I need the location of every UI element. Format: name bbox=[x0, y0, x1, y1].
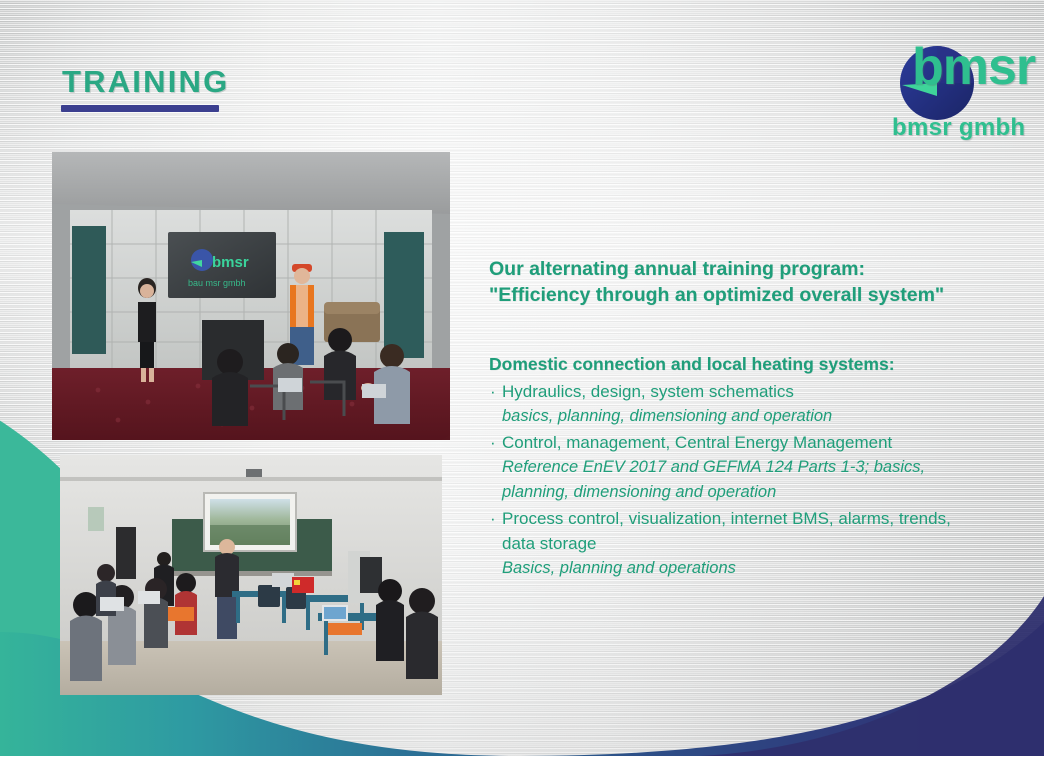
svg-text:bau msr gmbh: bau msr gmbh bbox=[188, 278, 246, 288]
bullet-icon: · bbox=[490, 430, 496, 455]
bullet-main-text: data storage bbox=[502, 531, 1037, 556]
bullet-icon: · bbox=[490, 506, 496, 531]
bullet-sub-text: basics, planning, dimensioning and opera… bbox=[502, 404, 1037, 429]
training-room-render-image: bmsr bau msr gmbh bbox=[52, 152, 450, 440]
bullet-sub-text: Basics, planning and operations bbox=[502, 556, 1037, 581]
bmsr-logo: bmsr bmsr gmbh bbox=[890, 38, 1030, 156]
bmsr-wordmark: bmsr bbox=[912, 41, 1035, 93]
bottom-white-margin bbox=[0, 756, 1044, 783]
list-item: · Hydraulics, design, system schematics … bbox=[489, 379, 1037, 429]
lead-line-1: Our alternating annual training program: bbox=[489, 258, 865, 280]
bullet-main-text: Hydraulics, design, system schematics bbox=[502, 379, 1037, 404]
section-heading: Domestic connection and local heating sy… bbox=[489, 354, 1037, 375]
bullet-icon: · bbox=[490, 379, 496, 404]
svg-text:bmsr: bmsr bbox=[212, 254, 249, 271]
page-title: TRAINING bbox=[62, 64, 229, 100]
lead-line-2: "Efficiency through an optimized overall… bbox=[489, 284, 944, 306]
content-text-block: Our alternating annual training program:… bbox=[489, 256, 1037, 582]
bullet-sub-text: planning, dimensioning and operation bbox=[502, 480, 1037, 505]
title-underline-rule bbox=[61, 105, 219, 112]
training-topics-list: · Hydraulics, design, system schematics … bbox=[489, 379, 1037, 581]
bullet-sub-text: Reference EnEV 2017 and GEFMA 124 Parts … bbox=[502, 455, 1037, 480]
lead-paragraph: Our alternating annual training program:… bbox=[489, 256, 1037, 308]
bullet-main-text: Process control, visualization, internet… bbox=[502, 506, 1037, 531]
slide-canvas: TRAINING bmsr bmsr gmbh bbox=[0, 0, 1044, 783]
list-item: · Process control, visualization, intern… bbox=[489, 506, 1037, 581]
bullet-main-text: Control, management, Central Energy Mana… bbox=[502, 430, 1037, 455]
classroom-photo-image bbox=[60, 455, 442, 695]
list-item: · Control, management, Central Energy Ma… bbox=[489, 430, 1037, 505]
bmsr-logo-subtitle: bmsr gmbh bbox=[892, 114, 1025, 142]
